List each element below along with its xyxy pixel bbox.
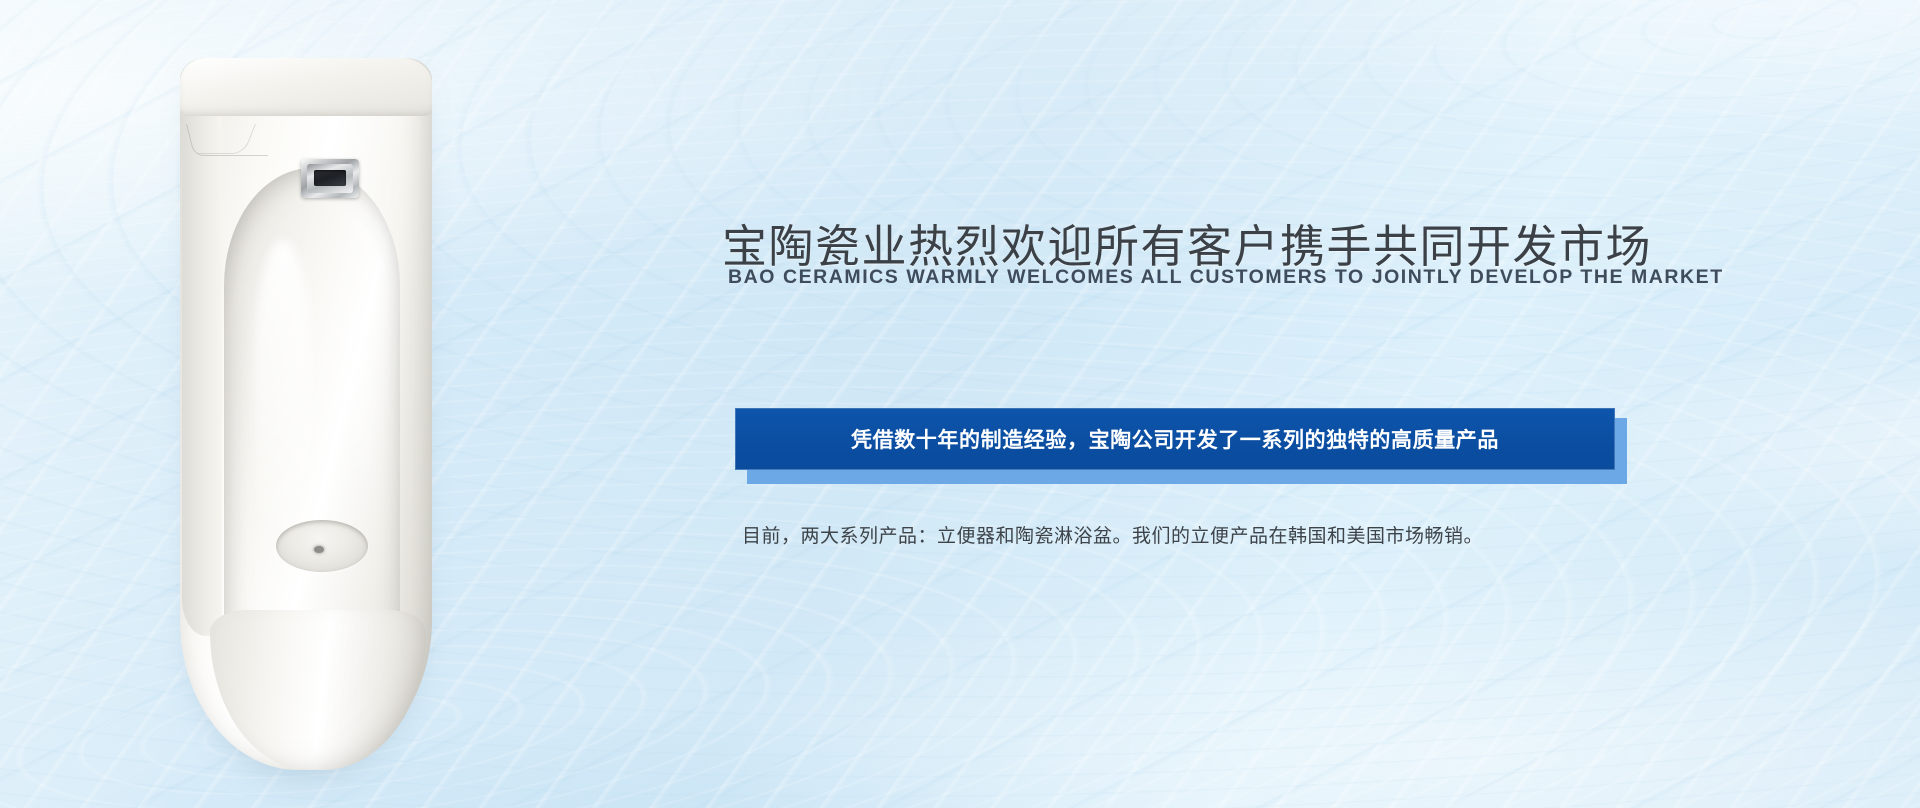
sensor-window-icon — [314, 170, 346, 186]
urinal-left-side-panel — [182, 116, 222, 636]
urinal-bowl-highlight-right — [340, 300, 374, 550]
urinal-top-cap — [180, 58, 432, 116]
hero-banner: 宝陶瓷业热烈欢迎所有客户携手共同开发市场 BAO CERAMICS WARMLY… — [0, 0, 1920, 808]
highlight-ribbon: 凭借数十年的制造经验，宝陶公司开发了一系列的独特的高质量产品 — [735, 408, 1615, 474]
banner-body-paragraph: 目前，两大系列产品：立便器和陶瓷淋浴盆。我们的立便产品在韩国和美国市场畅销。 — [742, 521, 1602, 548]
product-photo-urinal — [168, 50, 448, 772]
drain-hole-icon — [314, 546, 324, 553]
banner-subheadline-english: BAO CERAMICS WARMLY WELCOMES ALL CUSTOME… — [728, 266, 1628, 289]
urinal-bowl-highlight — [254, 240, 312, 570]
ribbon-label: 凭借数十年的制造经验，宝陶公司开发了一系列的独特的高质量产品 — [735, 408, 1615, 470]
